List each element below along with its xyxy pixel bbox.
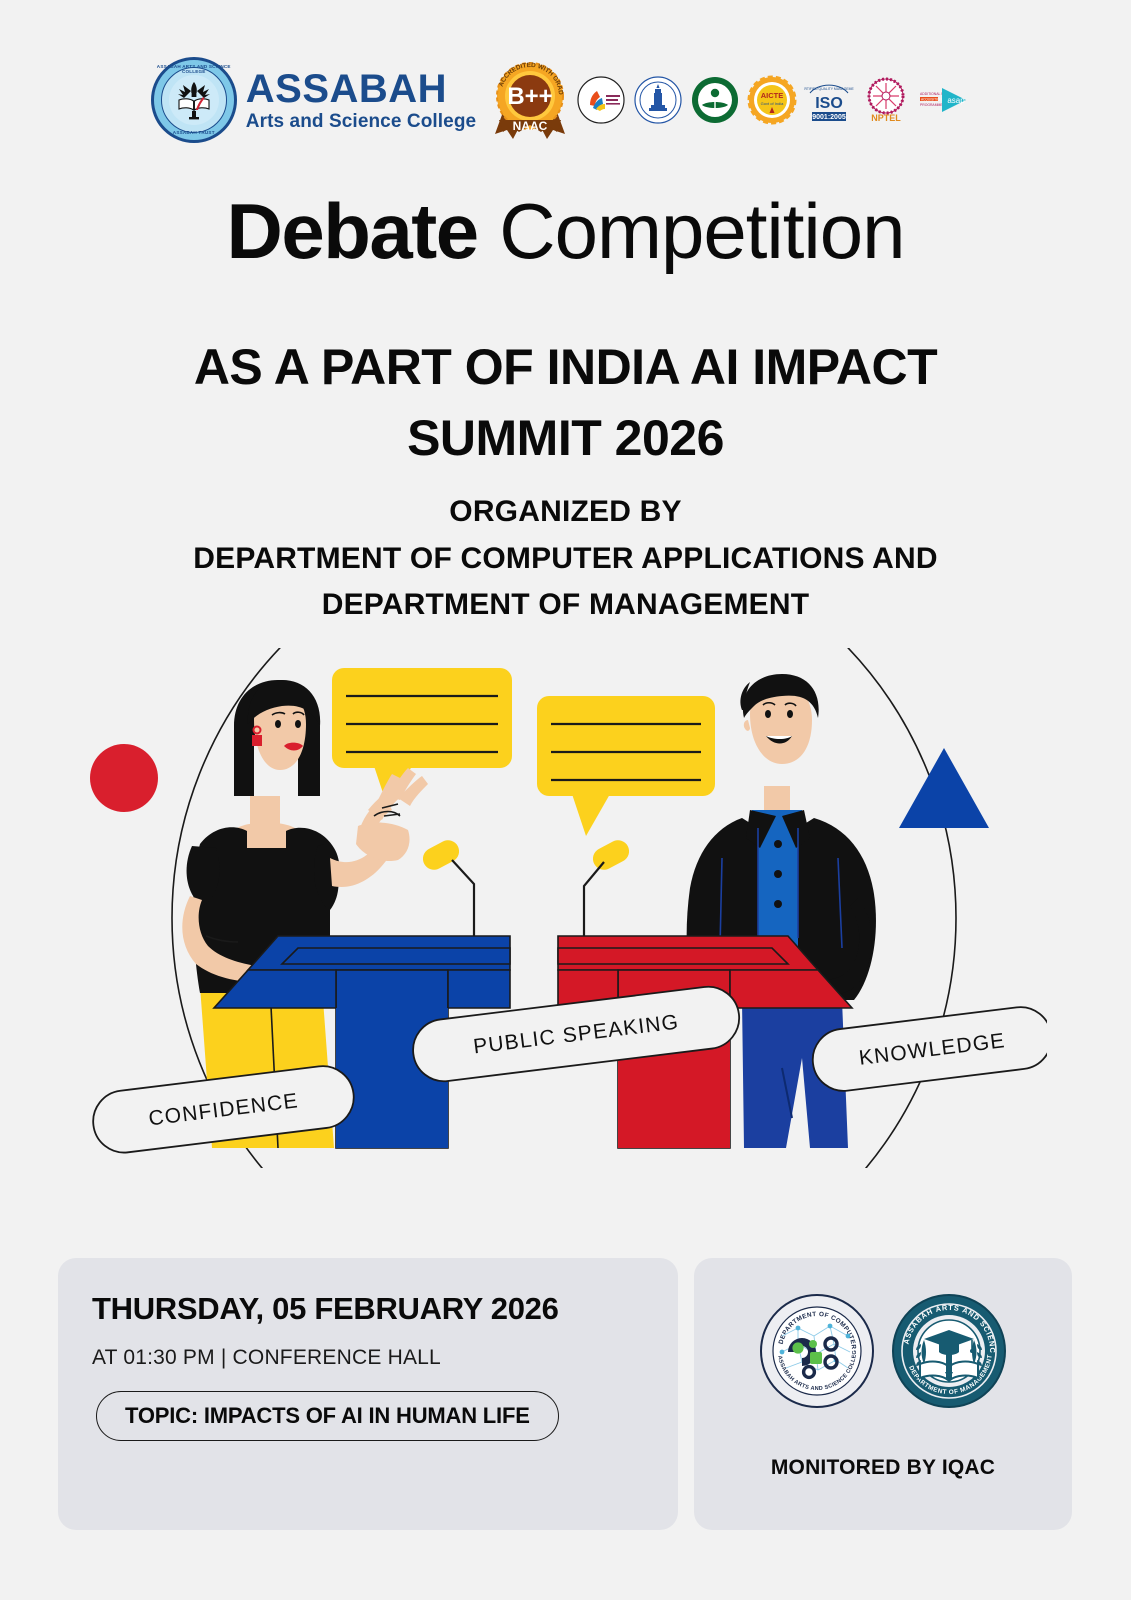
- title-light-word: Competition: [499, 187, 904, 275]
- organized-by-label: ORGANIZED BY: [0, 489, 1131, 536]
- brand-name: ASSABAH: [246, 69, 476, 109]
- page-title: Debate Competition: [0, 192, 1131, 270]
- organizer-block: ORGANIZED BY DEPARTMENT OF COMPUTER APPL…: [0, 489, 1131, 629]
- raised-hand: [356, 768, 428, 861]
- department-seals-panel: DEPARTMENT OF COMPUTER APPLICATIONS ASSA…: [694, 1258, 1072, 1530]
- brand-wordmark: ASSABAH Arts and Science College: [246, 69, 476, 131]
- yellow-speech-bubble-right: [537, 696, 715, 836]
- svg-text:NPTEL: NPTEL: [871, 113, 901, 123]
- naac-label-text: NAAC: [513, 119, 548, 133]
- title-bold-word: Debate: [227, 187, 478, 275]
- organizer-line-2: DEPARTMENT OF MANAGEMENT: [0, 582, 1131, 629]
- subtitle-line-1: AS A PART OF INDIA AI IMPACT: [0, 332, 1131, 403]
- organizer-line-1: DEPARTMENT OF COMPUTER APPLICATIONS AND: [0, 536, 1131, 583]
- subtitle-line-2: SUMMIT 2026: [0, 403, 1131, 474]
- svg-text:9001:2005: 9001:2005: [812, 114, 846, 121]
- debate-illustration: CONFIDENCE PUBLIC SPEAKING KNOWLEDGE: [82, 648, 1047, 1168]
- svg-text:PROGRAMME: PROGRAMME: [920, 103, 943, 107]
- management-department-seal-icon: ASSABAH ARTS AND SCIENCE COLLEGE DEPARTM…: [890, 1292, 1008, 1410]
- microphone-right: [584, 836, 633, 938]
- university-of-calicut-logo-icon: [633, 75, 683, 125]
- kerala-higher-education-logo-icon: [690, 75, 740, 125]
- emblem-book-torch-quill-icon: [172, 79, 216, 121]
- assabah-college-emblem-icon: ASSABAH ARTS AND SCIENCE COLLEGE ASSABAH…: [151, 57, 237, 143]
- monitored-by-label: MONITORED BY IQAC: [694, 1456, 1072, 1480]
- svg-text:ISO: ISO: [815, 95, 843, 112]
- iso-certification-logo-icon: CERTIFIED QUALITY MANAGEMENT ISO 9001:20…: [804, 75, 854, 125]
- header-logo-strip: ASSABAH ARTS AND SCIENCE COLLEGE ASSABAH…: [0, 52, 1131, 148]
- blue-triangle-decoration: [899, 748, 989, 828]
- svg-text:CERTIFIED QUALITY MANAGEMENT: CERTIFIED QUALITY MANAGEMENT: [804, 87, 854, 91]
- page-subtitle: AS A PART OF INDIA AI IMPACT SUMMIT 2026: [0, 332, 1131, 474]
- naac-grade-text: B++: [508, 83, 553, 110]
- emblem-arc-top-text: ASSABAH ARTS AND SCIENCE COLLEGE: [154, 64, 234, 74]
- svg-text:AICTE: AICTE: [761, 91, 784, 100]
- svg-text:Govt of India: Govt of India: [761, 101, 784, 106]
- svg-text:asap: asap: [948, 96, 966, 105]
- nsdc-skill-india-logo-icon: [576, 75, 626, 125]
- microphone-left: [419, 836, 474, 938]
- aicte-logo-icon: AICTE Govt of India: [747, 75, 797, 125]
- event-date: THURSDAY, 05 FEBRUARY 2026: [92, 1291, 559, 1327]
- emblem-arc-bottom-text: ASSABAH TRUST: [154, 130, 234, 135]
- brand-tagline: Arts and Science College: [246, 112, 476, 131]
- svg-text:ACQUISITION: ACQUISITION: [921, 97, 942, 101]
- event-topic-badge: TOPIC: IMPACTS OF AI IN HUMAN LIFE: [96, 1391, 559, 1441]
- event-details-panel: THURSDAY, 05 FEBRUARY 2026 AT 01:30 PM |…: [58, 1258, 678, 1530]
- keyword-pill-knowledge: KNOWLEDGE: [809, 1004, 1047, 1095]
- asap-logo-icon: ADDITIONAL SKILL ACQUISITION PROGRAMME a…: [918, 83, 980, 117]
- nptel-logo-icon: NPTEL: [861, 75, 911, 125]
- seal-row: DEPARTMENT OF COMPUTER APPLICATIONS ASSA…: [694, 1292, 1072, 1410]
- naac-accreditation-badge-icon: B++ ACCREDITED WITH GRADE NAAC: [491, 60, 569, 140]
- computer-applications-department-seal-icon: DEPARTMENT OF COMPUTER APPLICATIONS ASSA…: [758, 1292, 876, 1410]
- poster-root: ASSABAH ARTS AND SCIENCE COLLEGE ASSABAH…: [0, 0, 1131, 1600]
- event-time-venue: AT 01:30 PM | CONFERENCE HALL: [92, 1346, 441, 1370]
- red-circle-decoration: [90, 744, 158, 812]
